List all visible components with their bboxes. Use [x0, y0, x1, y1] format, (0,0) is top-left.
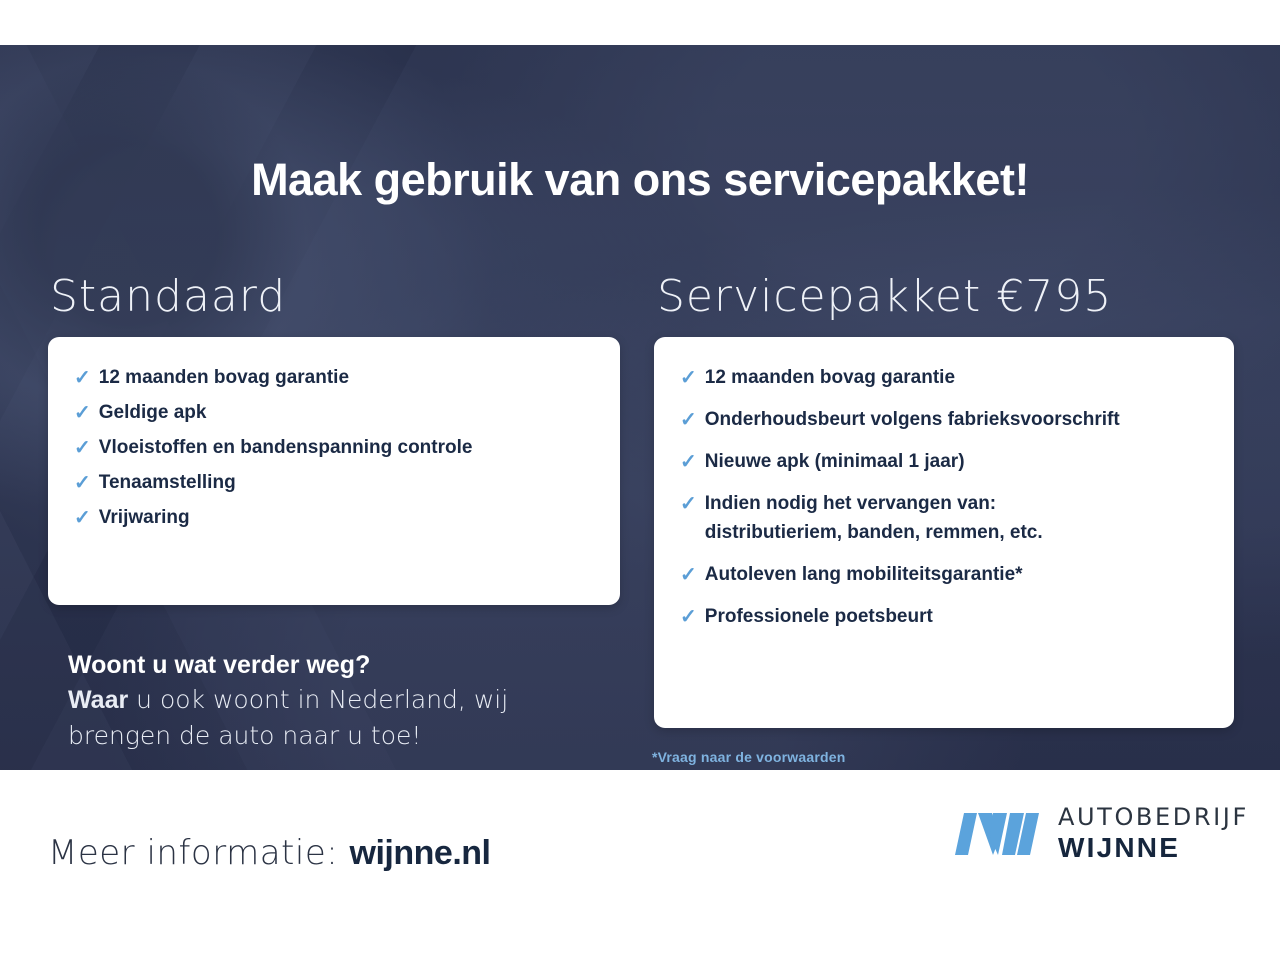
- list-item: ✓ Vrijwaring: [74, 505, 594, 531]
- website-link[interactable]: wijnne.nl: [350, 834, 491, 872]
- servicepakket-feature-card: ✓ 12 maanden bovag garantie ✓ Onderhouds…: [654, 337, 1234, 728]
- check-icon: ✓: [680, 365, 697, 391]
- list-item: ✓ Autoleven lang mobiliteitsgarantie*: [680, 562, 1208, 588]
- conditions-footnote: *Vraag naar de voorwaarden: [652, 749, 846, 765]
- check-icon: ✓: [74, 400, 91, 426]
- footer-bar: Meer informatie: wijnne.nl AUTOBEDRIJF W…: [0, 770, 1280, 960]
- promo-heading: Woont u wat verder weg?: [68, 649, 608, 682]
- list-item-label: 12 maanden bovag garantie: [99, 365, 349, 390]
- wijnne-w-mark-icon: [952, 807, 1040, 861]
- list-item-label-group: Indien nodig het vervangen van: distribu…: [705, 491, 1043, 546]
- servicepakket-feature-list: ✓ 12 maanden bovag garantie ✓ Onderhouds…: [680, 365, 1208, 630]
- list-item: ✓ Vloeistoffen en bandenspanning control…: [74, 435, 594, 461]
- column-heading-standaard: Standaard: [50, 275, 286, 319]
- more-info-label: Meer informatie:: [48, 833, 350, 873]
- check-icon: ✓: [680, 407, 697, 433]
- list-item: ✓ 12 maanden bovag garantie: [74, 365, 594, 391]
- check-icon: ✓: [680, 562, 697, 588]
- list-item: ✓ Onderhoudsbeurt volgens fabrieksvoorsc…: [680, 407, 1208, 433]
- check-icon: ✓: [680, 491, 697, 517]
- list-item-subline: distributieriem, banden, remmen, etc.: [705, 520, 1043, 545]
- promo-body-strong: Waar: [68, 686, 128, 714]
- standaard-feature-card: ✓ 12 maanden bovag garantie ✓ Geldige ap…: [48, 337, 620, 605]
- more-info-line: Meer informatie: wijnne.nl: [48, 833, 490, 873]
- list-item: ✓ Tenaamstelling: [74, 470, 594, 496]
- list-item-label: Professionele poetsbeurt: [705, 604, 933, 629]
- check-icon: ✓: [74, 435, 91, 461]
- logo-wordmark: AUTOBEDRIJF WIJNNE: [1058, 805, 1249, 862]
- list-item-label: Indien nodig het vervangen van:: [705, 493, 996, 514]
- logo-line-autobedrijf: AUTOBEDRIJF: [1058, 805, 1249, 829]
- column-heading-servicepakket: Servicepakket €795: [657, 275, 1112, 319]
- hero-content: Maak gebruik van ons servicepakket! Stan…: [0, 45, 1280, 770]
- list-item-label: Tenaamstelling: [99, 470, 236, 495]
- list-item-label: Vrijwaring: [99, 505, 190, 530]
- promo-body-rest: u ook woont in Nederland, wij brengen de…: [68, 685, 508, 750]
- check-icon: ✓: [680, 604, 697, 630]
- check-icon: ✓: [74, 365, 91, 391]
- standaard-feature-list: ✓ 12 maanden bovag garantie ✓ Geldige ap…: [74, 365, 594, 531]
- check-icon: ✓: [74, 505, 91, 531]
- company-logo[interactable]: AUTOBEDRIJF WIJNNE: [952, 805, 1249, 862]
- list-item-label: Nieuwe apk (minimaal 1 jaar): [705, 449, 965, 474]
- list-item: ✓ Indien nodig het vervangen van: distri…: [680, 491, 1208, 546]
- hero-panel: Maak gebruik van ons servicepakket! Stan…: [0, 45, 1280, 770]
- promo-body: Waar u ook woont in Nederland, wij breng…: [68, 682, 608, 755]
- list-item: ✓ Nieuwe apk (minimaal 1 jaar): [680, 449, 1208, 475]
- list-item: ✓ Geldige apk: [74, 400, 594, 426]
- list-item: ✓ 12 maanden bovag garantie: [680, 365, 1208, 391]
- delivery-promo-block: Woont u wat verder weg? Waar u ook woont…: [68, 649, 608, 755]
- list-item-label: Vloeistoffen en bandenspanning controle: [99, 435, 473, 460]
- check-icon: ✓: [74, 470, 91, 496]
- list-item-label: Autoleven lang mobiliteitsgarantie*: [705, 562, 1023, 587]
- list-item-label: Geldige apk: [99, 400, 207, 425]
- list-item-label: 12 maanden bovag garantie: [705, 365, 955, 390]
- page-title: Maak gebruik van ons servicepakket!: [0, 157, 1280, 202]
- check-icon: ✓: [680, 449, 697, 475]
- list-item-label: Onderhoudsbeurt volgens fabrieksvoorschr…: [705, 407, 1120, 432]
- list-item: ✓ Professionele poetsbeurt: [680, 604, 1208, 630]
- logo-line-wijnne: WIJNNE: [1058, 834, 1249, 862]
